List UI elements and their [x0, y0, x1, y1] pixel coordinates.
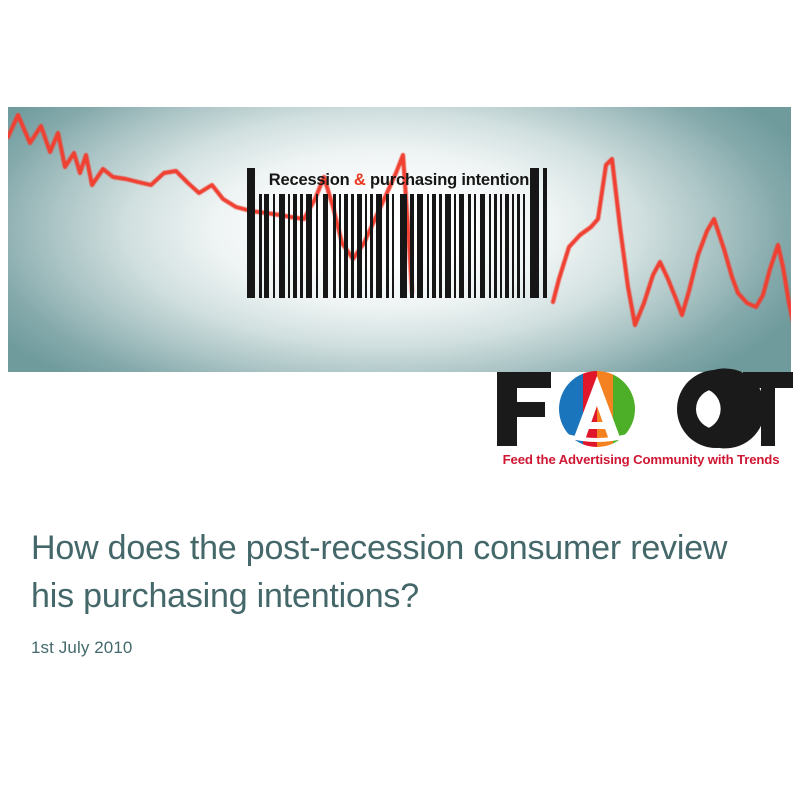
logo-colour-wheel	[559, 371, 637, 447]
page-title: How does the post-recession consumer rev…	[31, 524, 761, 621]
barcode-caption-suffix: purchasing intention	[366, 171, 530, 189]
slide-canvas: Recession & purchasing intention	[0, 0, 800, 800]
logo-letter-f	[497, 372, 551, 446]
slide-date: 1st July 2010	[31, 638, 761, 658]
fact-logo-tagline: Feed the Advertising Community with Tren…	[489, 452, 793, 467]
barcode-graphic: Recession & purchasing intention	[247, 168, 551, 298]
barcode-caption: Recession & purchasing intention	[247, 168, 551, 192]
fact-logo: Feed the Advertising Community with Tren…	[489, 366, 793, 476]
barcode-caption-ampersand: &	[354, 171, 366, 189]
barcode-caption-prefix: Recession	[269, 171, 354, 189]
fact-logo-mark	[489, 366, 793, 452]
title-block: How does the post-recession consumer rev…	[31, 524, 761, 658]
logo-letter-a-crossbar	[582, 422, 612, 429]
